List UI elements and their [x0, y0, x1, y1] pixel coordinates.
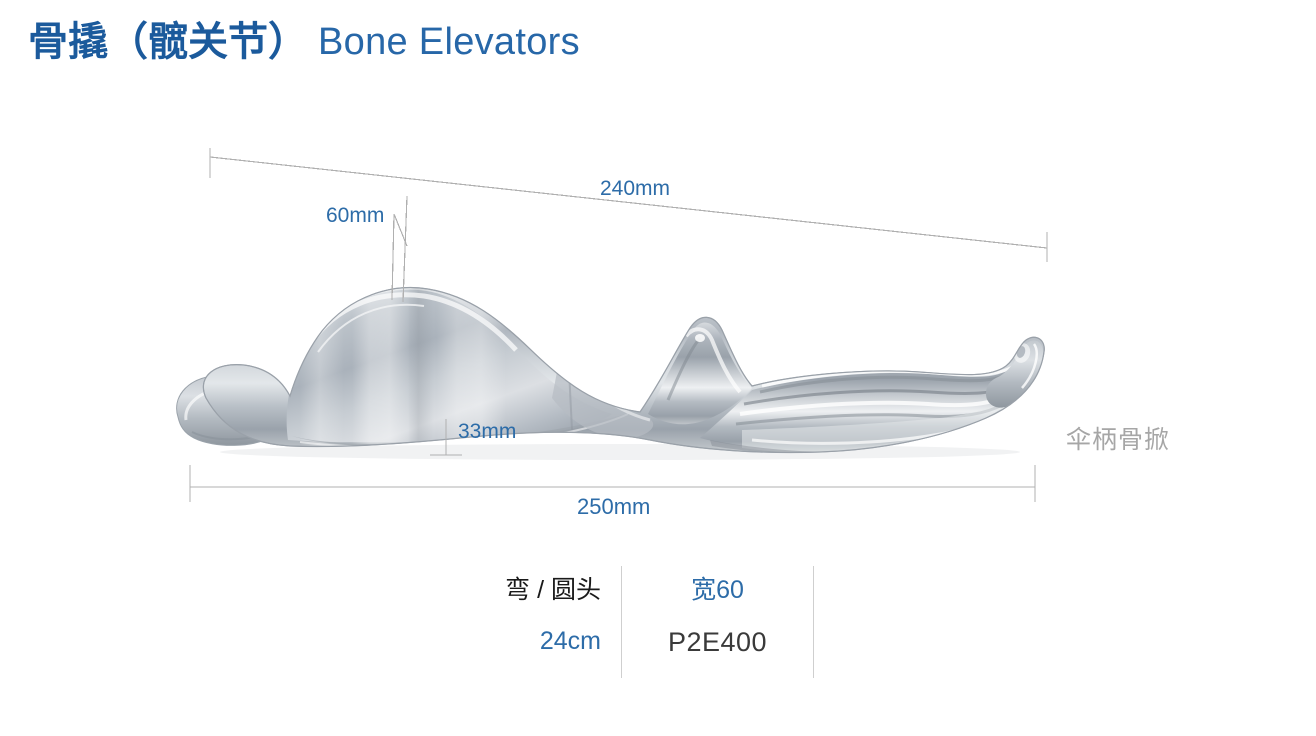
spec-column-shape-length: 弯 / 圆头 24cm — [455, 566, 622, 678]
spec-length-value: 24cm — [455, 629, 601, 654]
dimension-label-240mm: 240mm — [600, 178, 670, 199]
spec-shape-value: 弯 / 圆头 — [455, 578, 601, 603]
spec-product-code: P2E400 — [622, 629, 813, 656]
product-caption: 伞柄骨掀 — [1066, 420, 1170, 456]
dim-60-leader-left — [392, 214, 394, 300]
page-root: 骨撬（髋关节）Bone Elevators — [0, 0, 1316, 736]
dim-240-line — [210, 157, 1047, 248]
spec-width-value: 宽60 — [622, 578, 813, 603]
instrument-body — [177, 280, 1045, 460]
dim-60-arrow — [394, 214, 407, 246]
dimension-label-60mm: 60mm — [326, 205, 384, 226]
dimension-label-250mm: 250mm — [577, 496, 650, 518]
spec-column-width-code: 宽60 P2E400 — [622, 566, 814, 678]
spec-table: 弯 / 圆头 24cm 宽60 P2E400 — [455, 566, 815, 678]
dimension-label-33mm: 33mm — [458, 421, 516, 442]
dim-60-leader-right — [403, 196, 407, 302]
